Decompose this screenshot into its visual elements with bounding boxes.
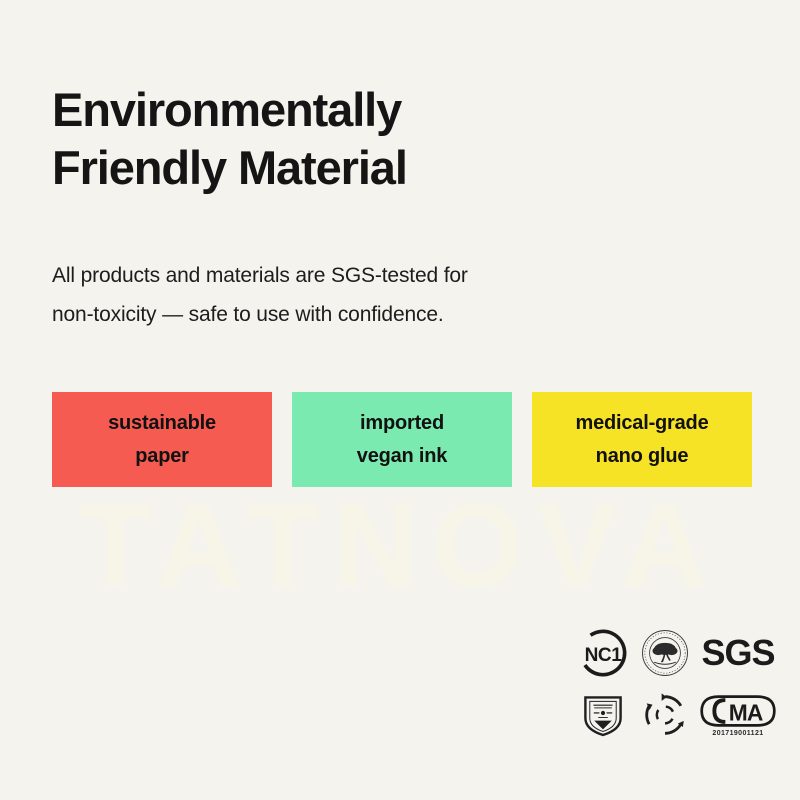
page-title-line-1: Environmentally bbox=[52, 81, 752, 138]
badge-label-line-2: nano glue bbox=[596, 440, 689, 472]
badge-label-line-1: sustainable bbox=[108, 407, 216, 439]
badge-sustainable-paper: sustainable paper bbox=[52, 392, 272, 487]
page-subtitle-line-2: non-toxicity — safe to use with confiden… bbox=[52, 296, 672, 335]
nc1-certification-icon: NC1 bbox=[572, 624, 634, 682]
badge-medical-grade-nano-glue: medical-grade nano glue bbox=[532, 392, 752, 487]
material-badge-list: sustainable paper imported vegan ink med… bbox=[52, 392, 752, 488]
cma-certificate-number: 201719001121 bbox=[712, 730, 763, 737]
svg-text:NC1: NC1 bbox=[585, 645, 623, 666]
forest-tree-seal-icon bbox=[634, 624, 696, 682]
page-subtitle-line-1: All products and materials are SGS-teste… bbox=[52, 257, 672, 296]
certification-logo-row-2: MA 201719001121 bbox=[572, 684, 784, 746]
shield-certification-icon bbox=[572, 684, 634, 746]
page-title-line-2: Friendly Material bbox=[52, 139, 752, 196]
environmental-material-card: TATNOVA Environmentally Friendly Materia… bbox=[0, 0, 800, 800]
sgs-logo-text: SGS bbox=[701, 635, 774, 671]
badge-label-line-2: vegan ink bbox=[357, 440, 447, 472]
badge-label-line-2: paper bbox=[135, 440, 188, 472]
cma-certification-icon: MA 201719001121 bbox=[696, 684, 780, 746]
badge-label-line-1: imported bbox=[360, 407, 444, 439]
recycling-symbol-icon bbox=[634, 684, 696, 746]
page-subtitle: All products and materials are SGS-teste… bbox=[52, 257, 672, 335]
badge-imported-vegan-ink: imported vegan ink bbox=[292, 392, 512, 487]
badge-label-line-1: medical-grade bbox=[575, 407, 708, 439]
certification-logo-group: NC1 bbox=[572, 622, 784, 750]
sgs-certification-icon: SGS bbox=[696, 624, 780, 682]
brand-watermark: TATNOVA bbox=[0, 487, 800, 605]
certification-logo-row-1: NC1 bbox=[572, 622, 784, 684]
page-title: Environmentally Friendly Material bbox=[52, 81, 752, 196]
svg-text:MA: MA bbox=[729, 699, 763, 725]
